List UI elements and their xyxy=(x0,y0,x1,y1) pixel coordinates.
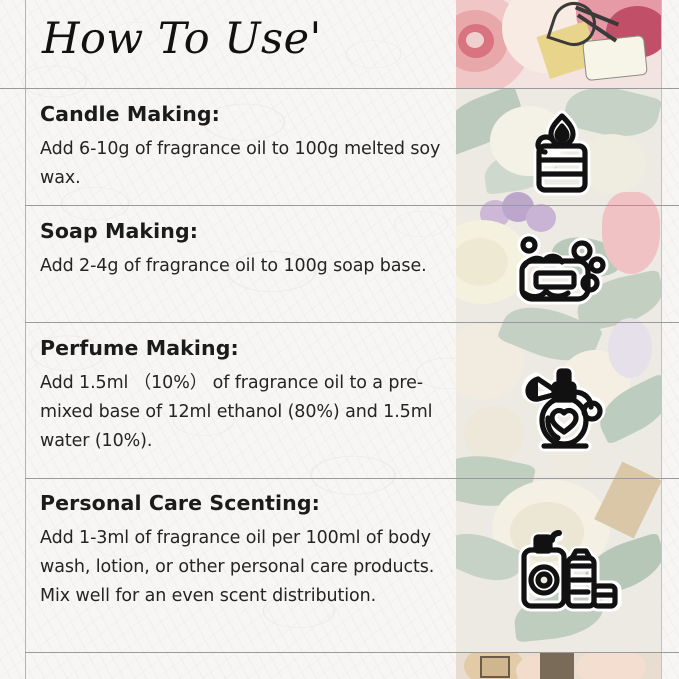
section-personal-care-scenting: Personal Care Scenting: Add 1-3ml of fra… xyxy=(40,491,452,611)
section-body-candle-making: Add 6-10g of fragrance oil to 100g melte… xyxy=(40,135,452,193)
section-heading-candle-making: Candle Making: xyxy=(40,102,452,126)
section-body-perfume-making: Add 1.5ml （10%） of fragrance oil to a pr… xyxy=(40,369,452,456)
page-title: How To Use' xyxy=(42,14,322,64)
section-soap-making: Soap Making: Add 2-4g of fragrance oil t… xyxy=(40,219,452,281)
candle-icon xyxy=(502,104,622,196)
section-heading-personal-care-scenting: Personal Care Scenting: xyxy=(40,491,452,515)
right-margin-vertical-rule xyxy=(661,0,662,679)
section-heading-soap-making: Soap Making: xyxy=(40,219,452,243)
instructions-content: How To Use' Candle Making: Add 6-10g of … xyxy=(0,0,456,679)
how-to-use-infographic: How To Use' Candle Making: Add 6-10g of … xyxy=(0,0,679,679)
section-perfume-making: Perfume Making: Add 1.5ml （10%） of fragr… xyxy=(40,336,452,456)
soap-bar-icon xyxy=(502,229,622,315)
section-heading-perfume-making: Perfume Making: xyxy=(40,336,452,360)
personal-care-products-icon xyxy=(502,518,622,618)
section-candle-making: Candle Making: Add 6-10g of fragrance oi… xyxy=(40,102,452,193)
photo-bottom-band xyxy=(456,652,661,679)
section-body-soap-making: Add 2-4g of fragrance oil to 100g soap b… xyxy=(40,252,452,281)
photo-roses-band xyxy=(456,0,661,88)
perfume-bottle-icon xyxy=(502,358,622,456)
section-body-personal-care-scenting: Add 1-3ml of fragrance oil per 100ml of … xyxy=(40,524,452,611)
